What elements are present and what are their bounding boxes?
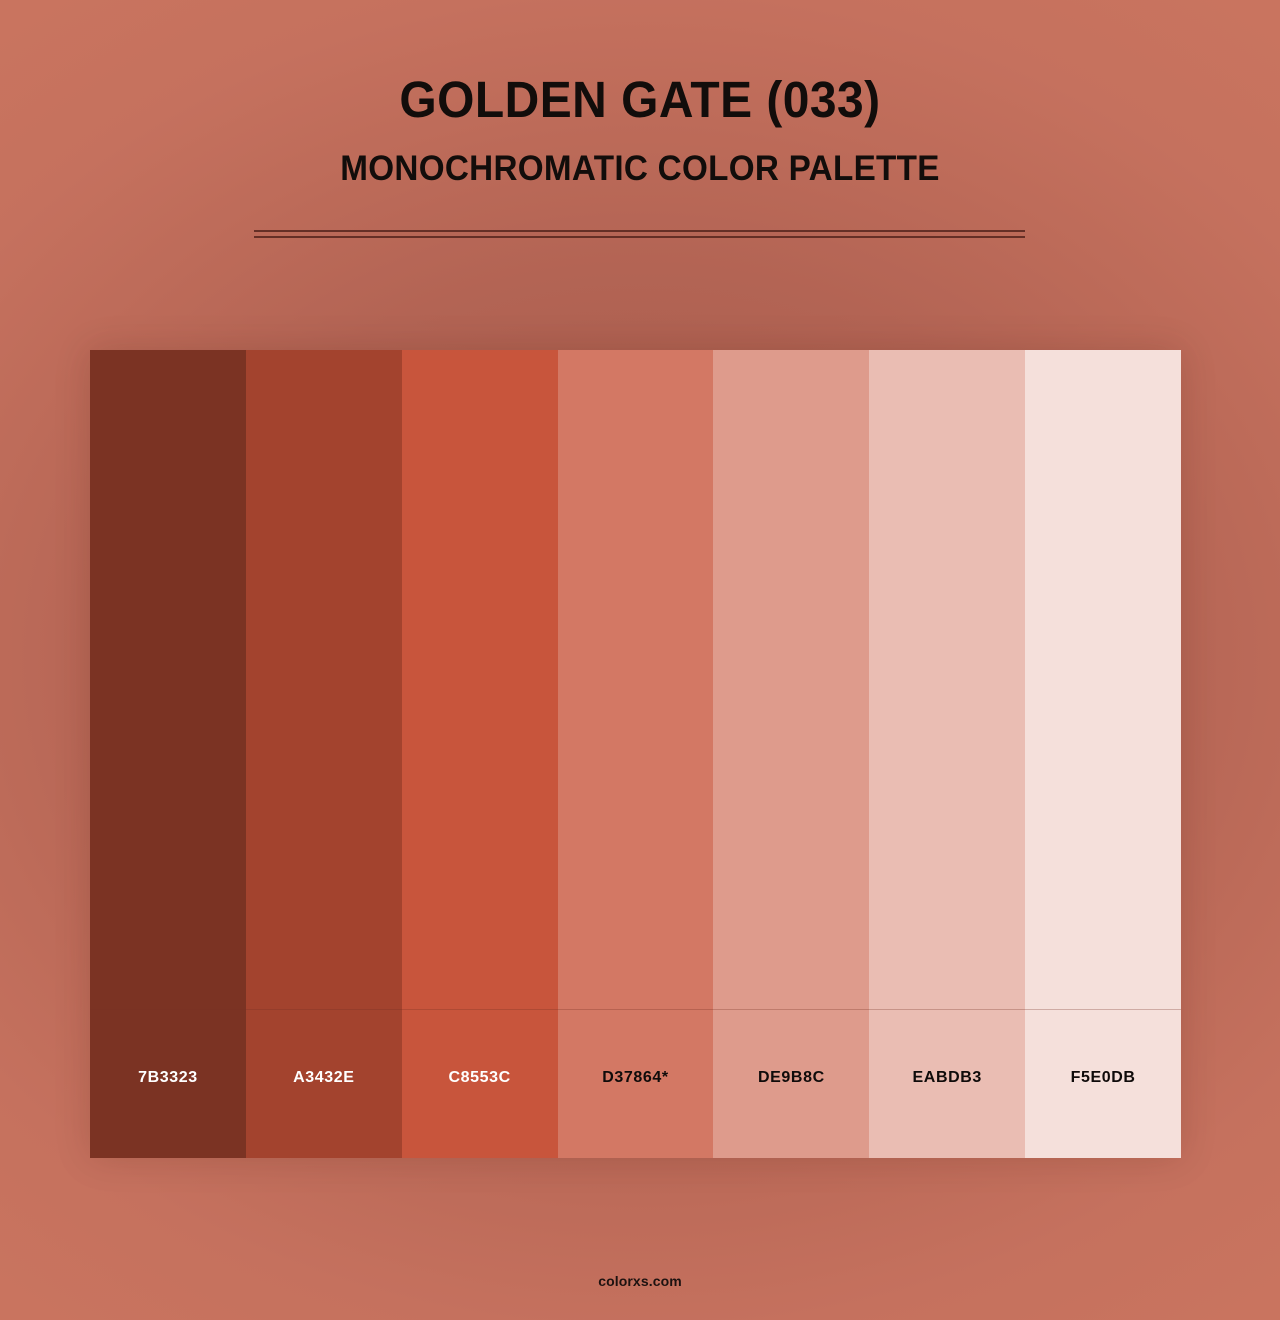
swatch-column[interactable]: C8553C [402,350,558,1158]
color-swatch[interactable] [402,350,558,1009]
swatch-hex-label: 7B3323 [138,1069,198,1087]
swatch-hex-label: C8553C [448,1069,510,1087]
page-background: GOLDEN GATE (033) MONOCHROMATIC COLOR PA… [0,0,1280,1320]
swatch-label-cell[interactable]: D37864* [558,1009,714,1158]
title-divider [254,230,1025,238]
swatch-label-cell[interactable]: F5E0DB [1025,1009,1181,1158]
swatch-hex-label: DE9B8C [758,1069,825,1087]
color-swatch[interactable] [90,350,246,1009]
swatch-column[interactable]: 7B3323 [90,350,246,1158]
color-swatch[interactable] [869,350,1025,1009]
swatch-hex-label: D37864* [602,1069,668,1087]
color-swatch[interactable] [558,350,714,1009]
page-subtitle: MONOCHROMATIC COLOR PALETTE [32,125,1248,186]
swatch-label-cell[interactable]: C8553C [402,1009,558,1158]
color-palette: 7B3323A3432EC8553CD37864*DE9B8CEABDB3F5E… [90,350,1181,1158]
color-swatch[interactable] [1025,350,1181,1009]
color-swatch[interactable] [246,350,402,1009]
swatch-column[interactable]: F5E0DB [1025,350,1181,1158]
swatch-column[interactable]: D37864* [558,350,714,1158]
header: GOLDEN GATE (033) MONOCHROMATIC COLOR PA… [0,0,1280,186]
swatch-column[interactable]: A3432E [246,350,402,1158]
swatch-column[interactable]: DE9B8C [713,350,869,1158]
footer: colorxs.com [0,1242,1280,1320]
swatch-hex-label: A3432E [293,1069,354,1087]
divider-rule-top [254,230,1025,232]
swatch-label-cell[interactable]: A3432E [246,1009,402,1158]
divider-rule-bottom [254,236,1025,238]
page-title: GOLDEN GATE (033) [38,0,1241,125]
swatch-hex-label: F5E0DB [1071,1069,1136,1087]
footer-site-link[interactable]: colorxs.com [598,1273,682,1289]
swatch-column[interactable]: EABDB3 [869,350,1025,1158]
swatch-label-cell[interactable]: 7B3323 [90,1009,246,1158]
swatch-label-cell[interactable]: EABDB3 [869,1009,1025,1158]
swatch-hex-label: EABDB3 [913,1069,982,1087]
color-swatch[interactable] [713,350,869,1009]
swatch-label-cell[interactable]: DE9B8C [713,1009,869,1158]
